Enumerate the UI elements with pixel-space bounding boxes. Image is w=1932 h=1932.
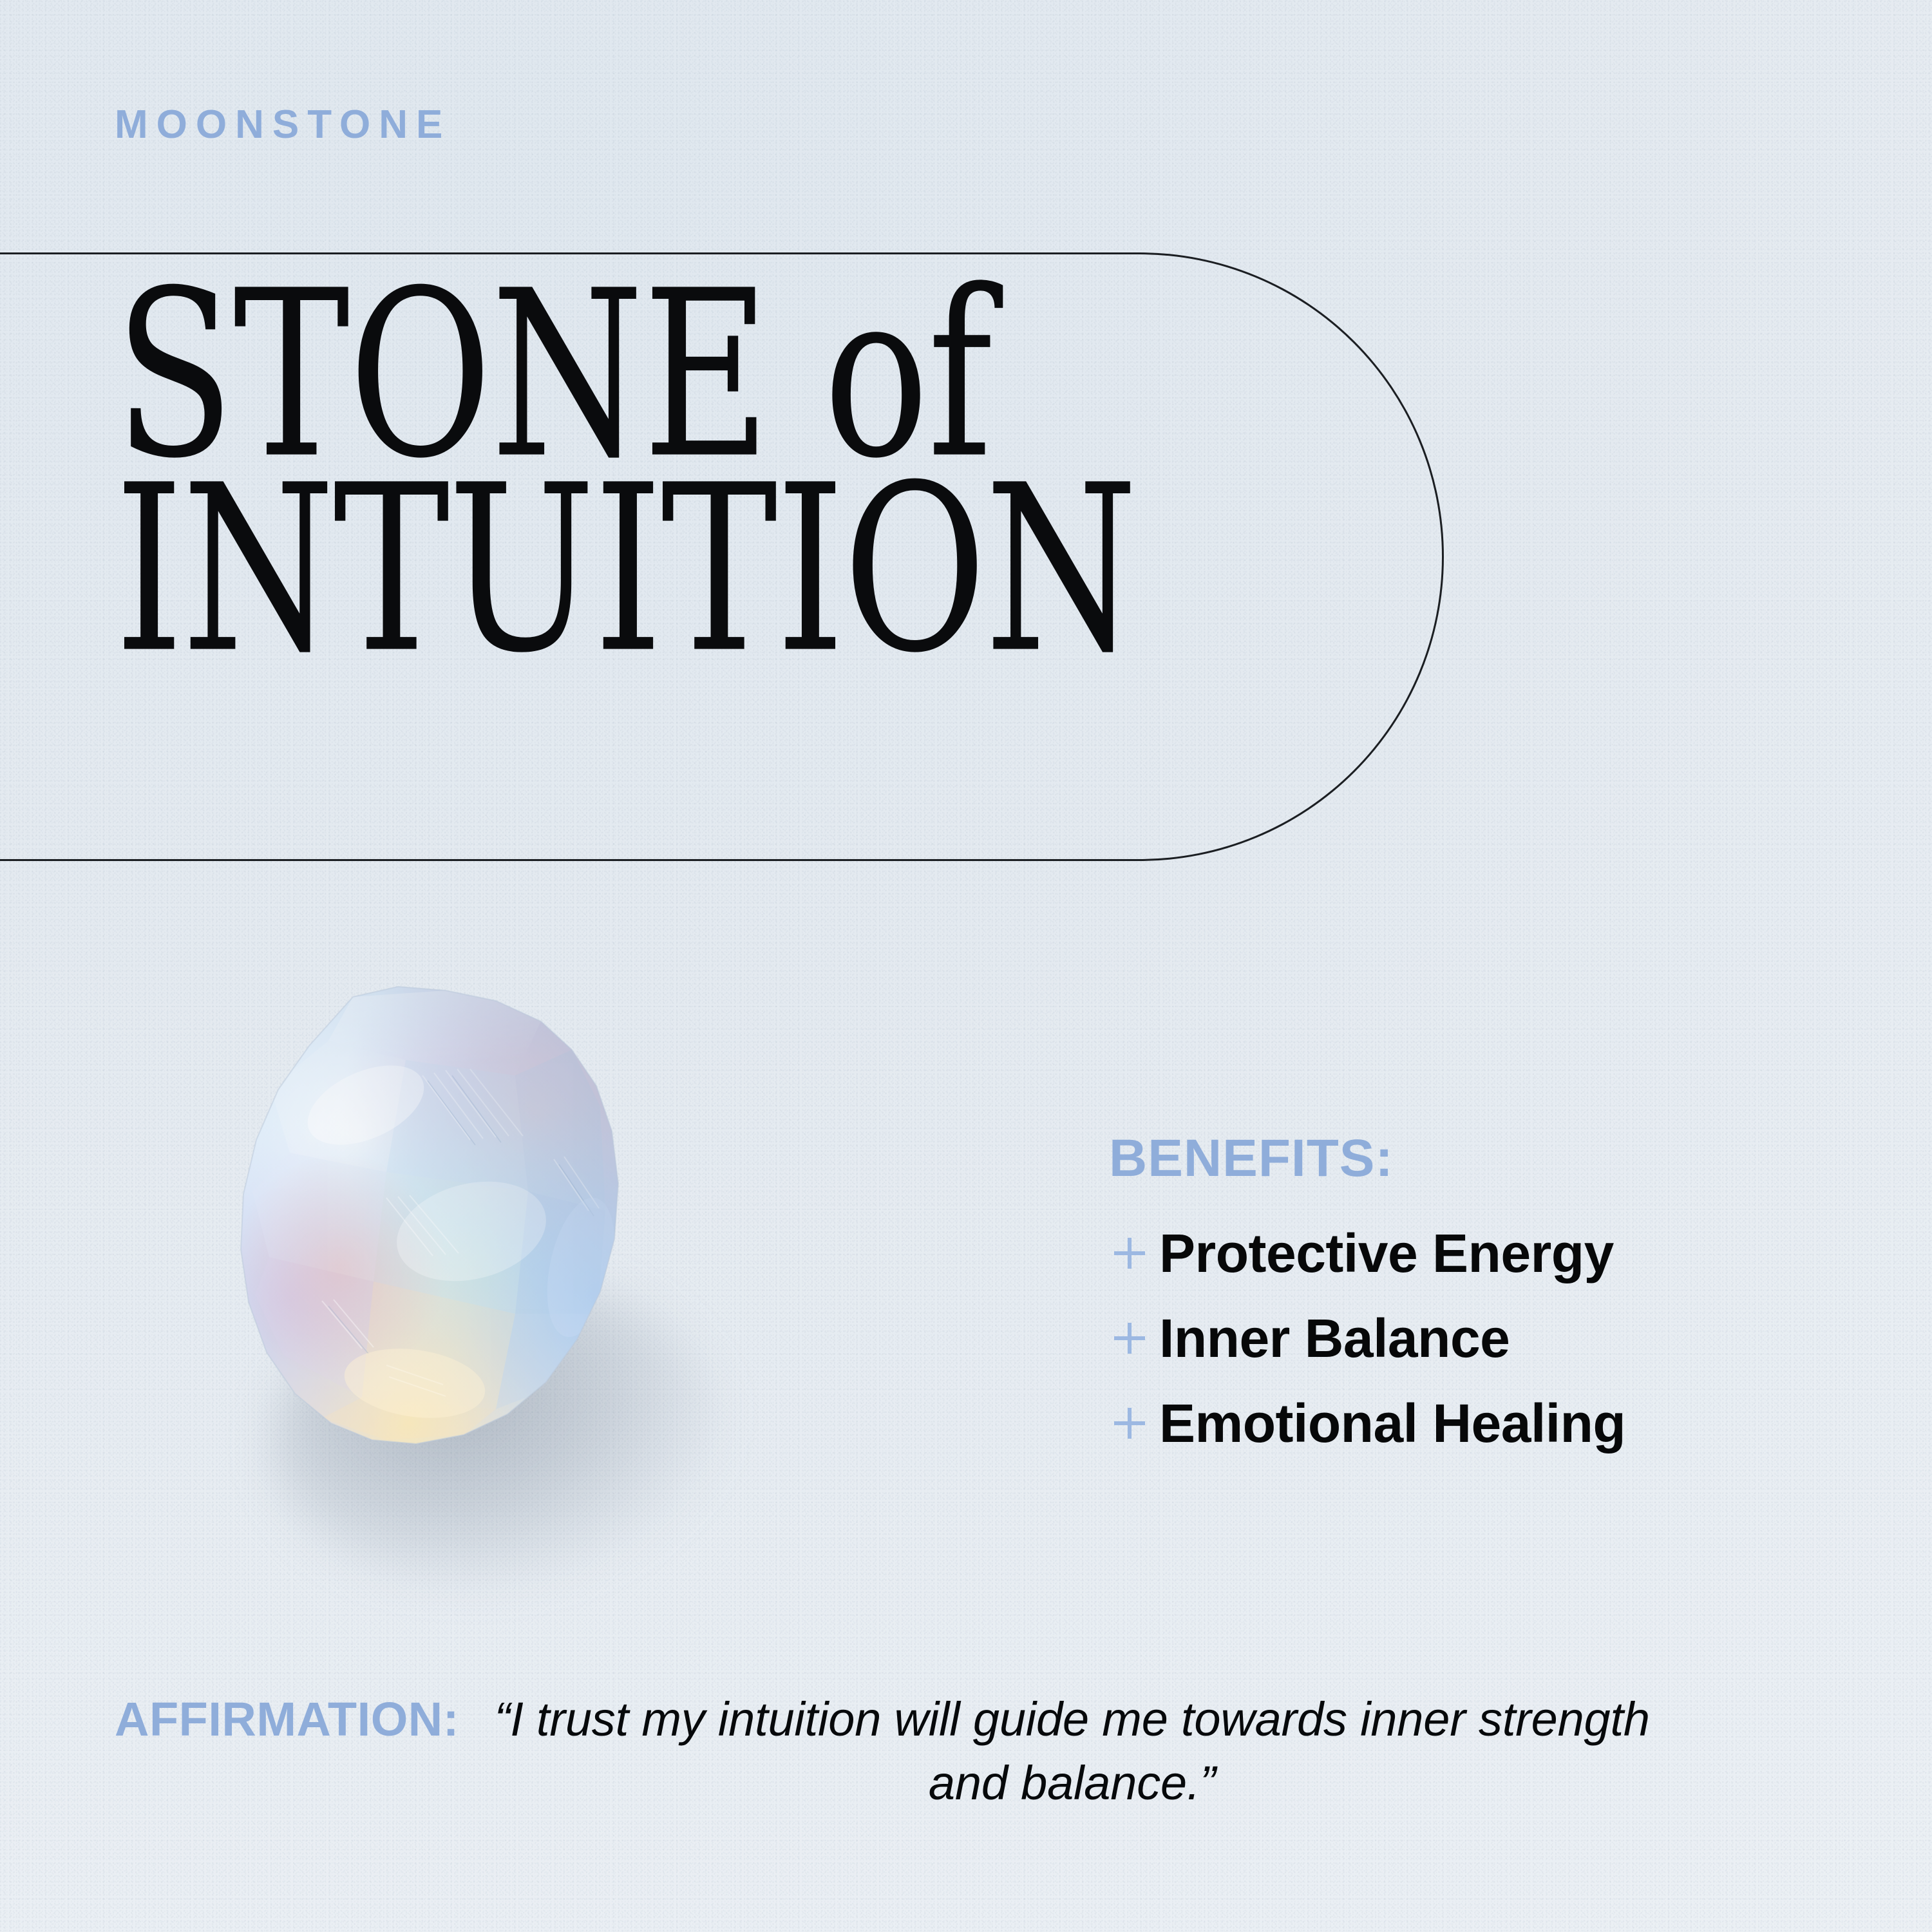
moonstone-figure <box>193 979 760 1597</box>
moonstone-crystal-icon <box>193 979 683 1494</box>
plus-icon <box>1109 1403 1150 1444</box>
title-line-2: INTUITION <box>115 464 1222 676</box>
benefits-section: BENEFITS: Protective Energy Inner Balanc… <box>1109 1132 1850 1472</box>
benefit-item-protective-energy: Protective Energy <box>1109 1217 1850 1289</box>
benefit-label: Inner Balance <box>1159 1311 1510 1365</box>
moonstone-body <box>193 979 683 1494</box>
affirmation-quote: “I trust my intuition will guide me towa… <box>473 1687 1671 1815</box>
benefit-item-inner-balance: Inner Balance <box>1109 1302 1850 1374</box>
plus-icon <box>1109 1318 1150 1359</box>
eyebrow-category-label: MOONSTONE <box>115 105 451 145</box>
affirmation-section: AFFIRMATION: “I trust my intuition will … <box>115 1687 1853 1815</box>
benefit-label: Emotional Healing <box>1159 1396 1625 1450</box>
plus-icon <box>1109 1233 1150 1274</box>
benefit-label: Protective Energy <box>1159 1226 1614 1280</box>
page-title: STONE of INTUITION <box>115 287 1338 659</box>
affirmation-label: AFFIRMATION: <box>115 1687 459 1751</box>
moonstone-poster: MOONSTONE STONE of INTUITION <box>0 0 1932 1932</box>
benefit-item-emotional-healing: Emotional Healing <box>1109 1387 1850 1459</box>
benefits-heading: BENEFITS: <box>1109 1132 1850 1185</box>
